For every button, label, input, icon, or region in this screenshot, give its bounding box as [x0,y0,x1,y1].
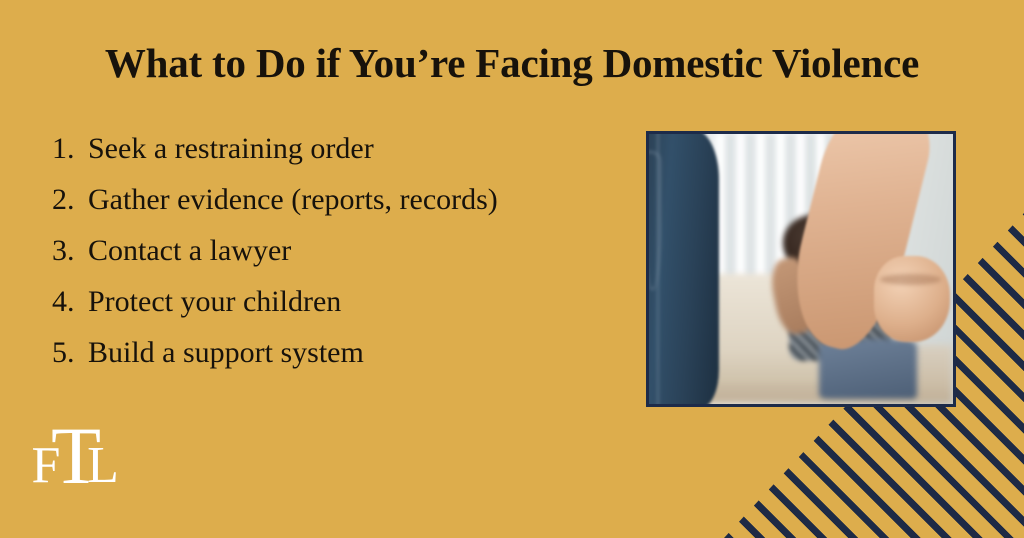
logo-letter-f: F [32,437,61,490]
list-item: 5. Build a support system [52,338,632,389]
list-item-number: 2. [52,185,88,215]
list-item-label: Build a support system [88,338,364,368]
photo-image [649,134,953,404]
slide-canvas: What to Do if You’re Facing Domestic Vio… [0,0,1024,538]
list-item: 3. Contact a lawyer [52,236,632,287]
list-item-number: 1. [52,134,88,164]
list-item-number: 5. [52,338,88,368]
photo-foreground-jeans [649,134,719,404]
list-item-number: 4. [52,287,88,317]
photo-jeans-pocket [649,151,661,290]
photo-frame [646,131,956,407]
photo-clenched-fist [874,256,950,342]
list-item: 1. Seek a restraining order [52,134,632,185]
photo-jeans-seam [657,134,659,404]
steps-list: 1. Seek a restraining order 2. Gather ev… [52,134,632,389]
ftl-logo[interactable]: T F L [30,414,122,490]
list-item-label: Gather evidence (reports, records) [88,185,498,215]
list-item: 4. Protect your children [52,287,632,338]
list-item-label: Protect your children [88,287,341,317]
photo-seated-man-jeans [819,339,916,398]
list-item: 2. Gather evidence (reports, records) [52,185,632,236]
logo-letter-l: L [87,437,119,490]
list-item-label: Contact a lawyer [88,236,291,266]
page-title: What to Do if You’re Facing Domestic Vio… [0,42,1024,85]
list-item-number: 3. [52,236,88,266]
list-item-label: Seek a restraining order [88,134,374,164]
